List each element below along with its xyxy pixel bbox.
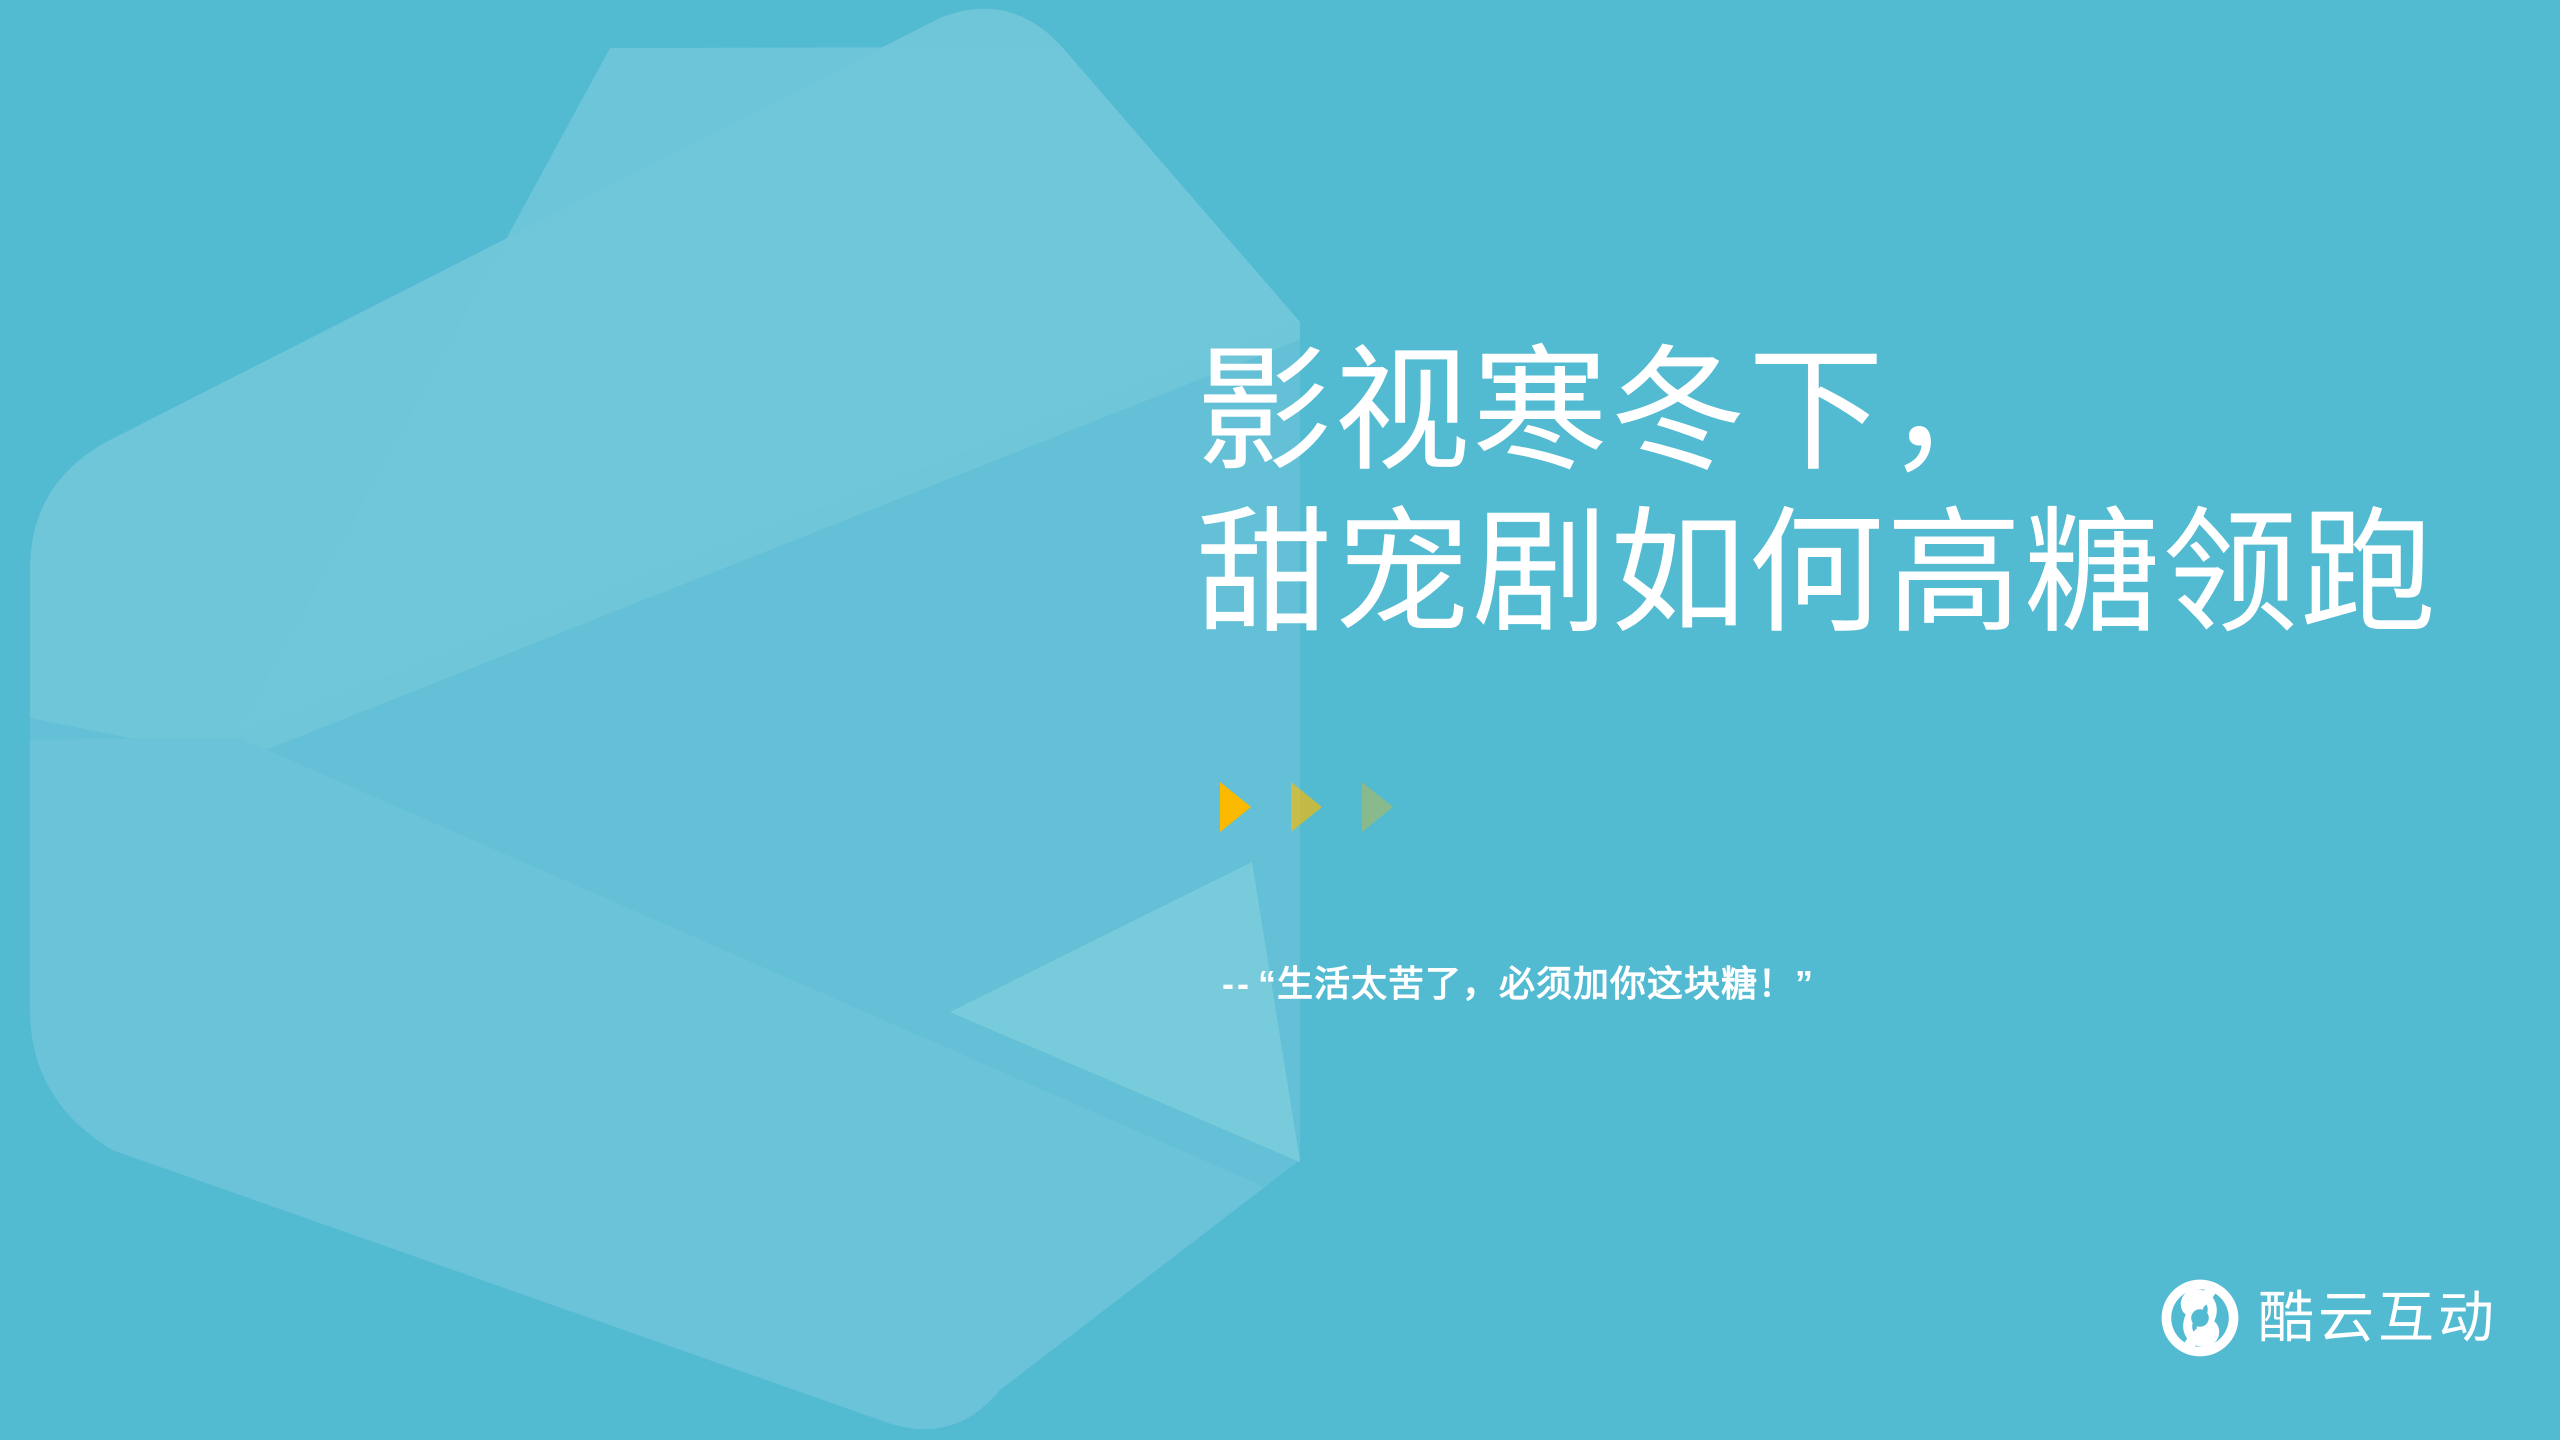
subtitle-quote: --“生活太苦了，必须加你这块糖！”: [1222, 958, 1814, 1010]
brand-name: 酷云互动: [2258, 1288, 2498, 1348]
presentation-slide: 影视寒冬下， 甜宠剧如何高糖领跑 --“生活太苦了，必须加你这块糖！” 酷云互动: [0, 0, 2560, 1440]
subtitle-dash: --: [1222, 963, 1252, 1004]
title-line-1: 影视寒冬下，: [1196, 330, 2536, 492]
play-triangle-icon-3: [1362, 782, 1393, 832]
brand-logo: 酷云互动: [2160, 1278, 2498, 1358]
background-artwork: [0, 0, 2560, 1440]
title-line-2: 甜宠剧如何高糖领跑: [1196, 492, 2536, 654]
play-triangle-icon-1: [1220, 782, 1251, 832]
arrow-decoration-row: [1220, 782, 1393, 832]
play-triangle-icon-2: [1291, 782, 1322, 832]
kuyun-spiral-icon: [2160, 1278, 2240, 1358]
subtitle-text: “生活太苦了，必须加你这块糖！”: [1258, 963, 1814, 1004]
page-title: 影视寒冬下， 甜宠剧如何高糖领跑: [1196, 330, 2536, 654]
